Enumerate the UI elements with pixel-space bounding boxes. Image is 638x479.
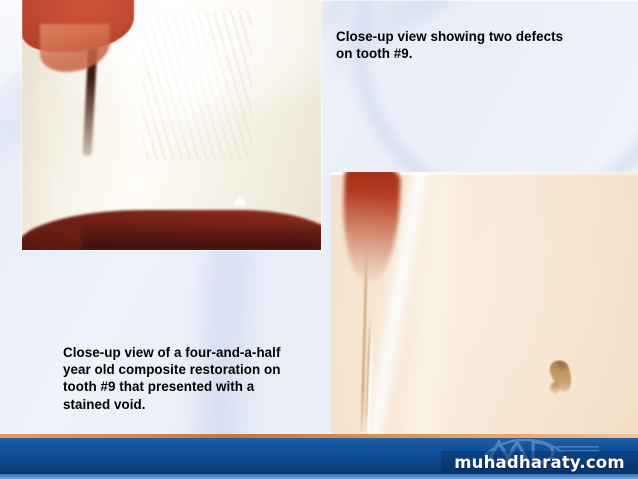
gingiva-lower-shadow	[82, 224, 321, 250]
slide-canvas: Close-up view showing two defects on too…	[0, 0, 638, 479]
watermark-group: muhadharaty.com	[441, 443, 638, 476]
stained-void-marker	[548, 358, 576, 394]
white-defect-marker-lower	[234, 196, 246, 205]
clinical-photo-stained-void-closeup	[331, 172, 638, 434]
clinical-photo-tooth-9-overview	[22, 0, 321, 250]
caption-upper-right: Close-up view showing two defects on too…	[336, 28, 586, 62]
caption-lower-left: Close-up view of a four-and-a-half year …	[63, 344, 321, 413]
watermark-text: muhadharaty.com	[441, 451, 638, 474]
